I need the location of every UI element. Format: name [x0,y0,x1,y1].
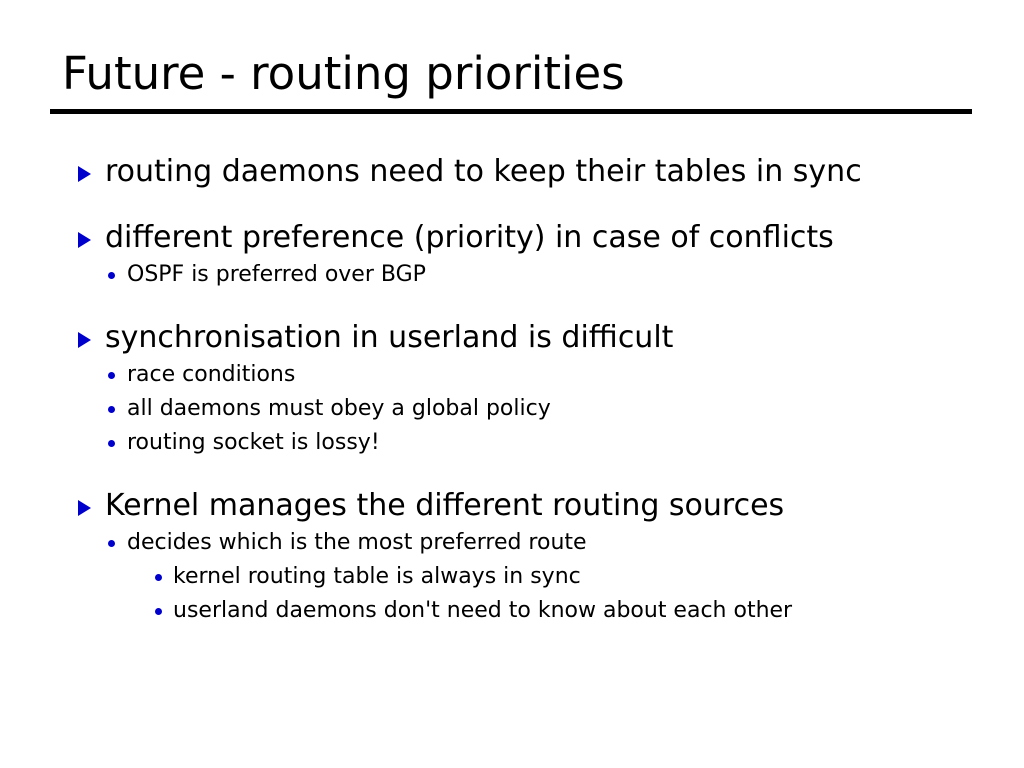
blue-round-bullet-icon [108,540,115,547]
page-title: Future - routing priorities [50,46,972,102]
bullet-level2: OSPF is preferred over BGP [0,258,1024,292]
bullet-group: routing daemons need to keep their table… [0,152,1024,192]
bullet-group: Kernel manages the different routing sou… [0,486,1024,628]
slide-body-outline: routing daemons need to keep their table… [0,152,1024,628]
bullet-level2: routing socket is lossy! [0,426,1024,460]
blue-round-bullet-icon [155,574,162,581]
blue-triangle-bullet-icon [78,332,91,348]
bullet-level1: synchronisation in userland is difficult [0,318,1024,358]
bullet-level1-label: different preference (priority) in case … [105,220,834,255]
bullet-level2-label: OSPF is preferred over BGP [127,262,426,287]
blue-round-bullet-icon [108,372,115,379]
bullet-level1-label: Kernel manages the different routing sou… [105,488,784,523]
bullet-level2-label: all daemons must obey a global policy [127,396,551,421]
blue-triangle-bullet-icon [78,232,91,248]
blue-triangle-bullet-icon [78,500,91,516]
bullet-level2: decides which is the most preferred rout… [0,526,1024,560]
bullet-level2: all daemons must obey a global policy [0,392,1024,426]
bullet-level1: routing daemons need to keep their table… [0,152,1024,192]
bullet-level1-label: routing daemons need to keep their table… [105,154,862,189]
blue-round-bullet-icon [108,406,115,413]
bullet-level2-label: race conditions [127,362,295,387]
bullet-group: different preference (priority) in case … [0,218,1024,292]
bullet-level2-label: routing socket is lossy! [127,430,380,455]
title-underline-rule [50,109,972,114]
bullet-level2-label: decides which is the most preferred rout… [127,530,587,555]
blue-round-bullet-icon [108,272,115,279]
bullet-level2: race conditions [0,358,1024,392]
bullet-level1-label: synchronisation in userland is difficult [105,320,673,355]
bullet-level3-label: kernel routing table is always in sync [173,564,581,589]
bullet-level3-label: userland daemons don't need to know abou… [173,598,792,623]
bullet-group: synchronisation in userland is difficult… [0,318,1024,460]
bullet-level3: kernel routing table is always in sync [0,560,1024,594]
blue-triangle-bullet-icon [78,166,91,182]
bullet-level1: different preference (priority) in case … [0,218,1024,258]
presentation-slide: Future - routing priorities routing daem… [0,0,1024,768]
blue-round-bullet-icon [108,440,115,447]
slide-title-block: Future - routing priorities [50,46,972,114]
bullet-level1: Kernel manages the different routing sou… [0,486,1024,526]
bullet-level3: userland daemons don't need to know abou… [0,594,1008,628]
blue-round-bullet-icon [155,608,162,615]
